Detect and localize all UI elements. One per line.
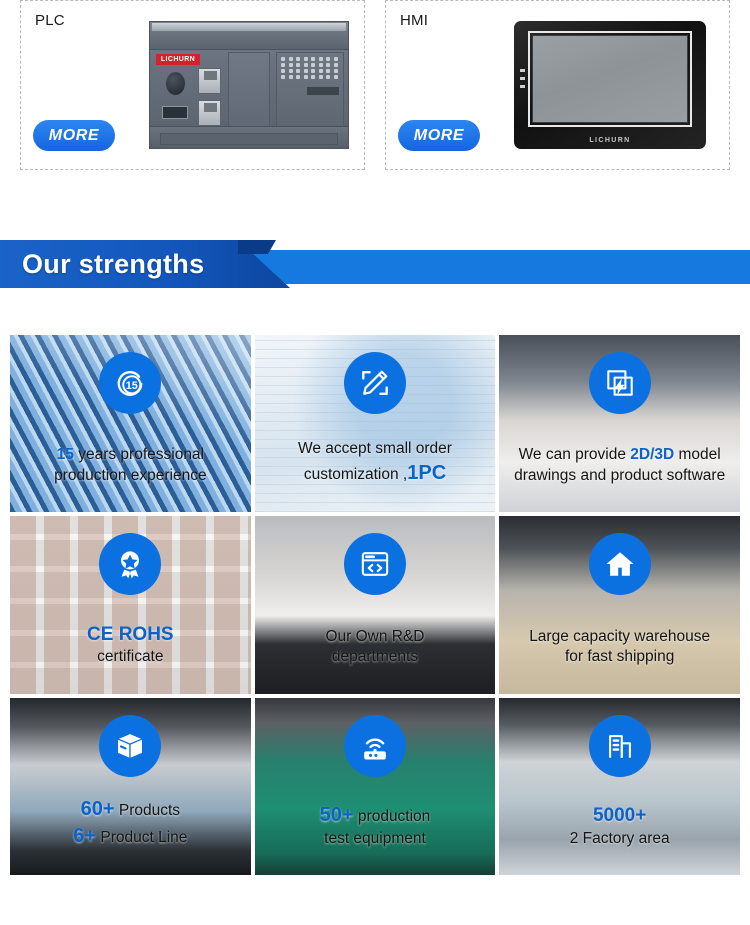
plc-brand-logo: LICHURN [156, 54, 200, 65]
router-signal-icon [344, 715, 406, 777]
card-metric: CE ROHS [16, 622, 245, 647]
card-caption: 5000+ 2 Factory area [505, 803, 734, 849]
card-metric: 2D/3D [630, 446, 674, 463]
hmi-indicator-leds-icon [520, 69, 525, 93]
card-metric: 6+ [73, 825, 96, 847]
svg-text:15: 15 [126, 380, 138, 392]
box-package-icon [99, 715, 161, 777]
factory-building-icon [589, 715, 651, 777]
strength-card-years[interactable]: 15 15 years professional production expe… [10, 335, 251, 512]
plc-ethernet-port-icon [198, 68, 221, 94]
more-button-hmi[interactable]: MORE [398, 120, 480, 151]
strengths-grid: 15 15 years professional production expe… [10, 335, 740, 875]
product-label-plc: PLC [35, 12, 65, 29]
card-caption: 60+ Products 6+ Product Line [16, 796, 245, 849]
section-banner: Our strengths [0, 240, 750, 288]
card-caption: CE ROHS certificate [16, 622, 245, 668]
cad-drawing-icon [589, 352, 651, 414]
strength-card-factory-area[interactable]: 5000+ 2 Factory area [499, 698, 740, 875]
strength-card-customization[interactable]: We accept small order customization ,1PC [255, 335, 496, 512]
product-box-plc[interactable]: PLC LICHURN [20, 0, 365, 170]
strength-card-test-equipment[interactable]: 50+ production test equipment [255, 698, 496, 875]
strength-card-drawings[interactable]: We can provide 2D/3D model drawings and … [499, 335, 740, 512]
card-caption: We can provide 2D/3D model drawings and … [505, 445, 734, 486]
card-caption: 15 years professional production experie… [16, 445, 245, 486]
section-title: Our strengths [22, 249, 204, 280]
pencil-ruler-customization-icon [344, 352, 406, 414]
hmi-brand-logo: LICHURN [514, 137, 706, 144]
plc-device-image: LICHURN [149, 21, 349, 149]
product-label-hmi: HMI [400, 12, 428, 29]
badge-15-years-icon: 15 [99, 352, 161, 414]
strength-card-warehouse[interactable]: Large capacity warehouse for fast shippi… [499, 516, 740, 693]
card-metric: 15 [57, 446, 74, 463]
plc-usb-port-icon [162, 106, 188, 119]
card-metric: 60+ [81, 798, 115, 820]
card-caption: Large capacity warehouse for fast shippi… [505, 627, 734, 668]
card-metric: 1PC [407, 462, 446, 484]
more-button-plc[interactable]: MORE [33, 120, 115, 151]
strength-card-certificate[interactable]: CE ROHS certificate [10, 516, 251, 693]
home-warehouse-icon [589, 533, 651, 595]
card-metric: 50+ [320, 804, 354, 826]
strength-card-products[interactable]: 60+ Products 6+ Product Line [10, 698, 251, 875]
card-caption: We accept small order customization ,1PC [261, 439, 490, 486]
product-teaser-row: PLC LICHURN [0, 0, 750, 172]
card-caption: Our Own R&D departments [261, 627, 490, 668]
code-window-icon [344, 533, 406, 595]
card-caption: 50+ production test equipment [261, 802, 490, 849]
plc-dial-icon [166, 72, 185, 95]
hmi-device-image: LICHURN [514, 21, 706, 149]
product-box-hmi[interactable]: HMI LICHURN MORE [385, 0, 730, 170]
card-metric: 5000+ [505, 803, 734, 828]
strength-card-rnd[interactable]: Our Own R&D departments [255, 516, 496, 693]
plc-ethernet-port-icon [198, 100, 221, 126]
award-ribbon-icon [99, 533, 161, 595]
